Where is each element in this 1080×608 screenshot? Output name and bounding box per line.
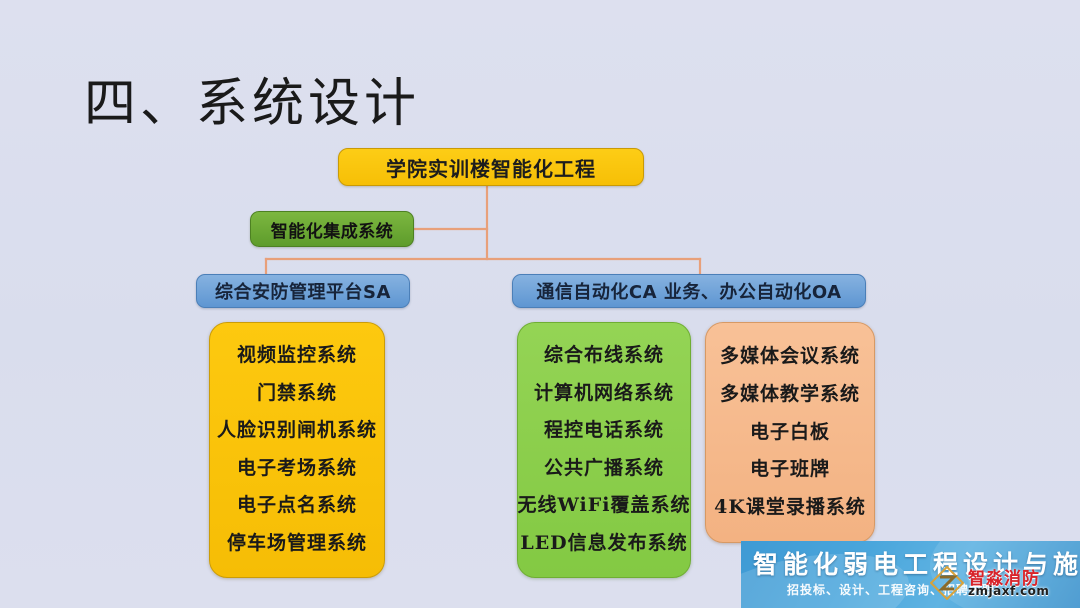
watermark-logo: 智淼消防 zmjaxf.com (930, 564, 1080, 602)
watermark-url: zmjaxf.com (968, 584, 1049, 598)
list-item[interactable]: 电子班牌 (750, 460, 830, 480)
panel-office-systems: 多媒体会议系统 多媒体教学系统 电子白板 电子班牌 4K课堂录播系统 (705, 322, 875, 543)
list-item[interactable]: 公共广播系统 (544, 459, 664, 479)
panel-security-systems: 视频监控系统 门禁系统 人脸识别闸机系统 电子考场系统 电子点名系统 停车场管理… (209, 322, 385, 578)
list-item[interactable]: 电子点名系统 (237, 496, 357, 516)
page-title: 四、系统设计 (84, 78, 420, 130)
node-integration-system[interactable]: 智能化集成系统 (250, 211, 414, 247)
list-item[interactable]: 电子白板 (750, 423, 830, 443)
list-item[interactable]: 无线WiFi覆盖系统 (518, 496, 691, 516)
z-diamond-logo-icon (930, 566, 964, 600)
list-item[interactable]: 电子考场系统 (237, 459, 357, 479)
list-item[interactable]: 计算机网络系统 (534, 384, 674, 404)
node-branch-communication-office[interactable]: 通信自动化CA 业务、办公自动化OA (512, 274, 866, 308)
list-item[interactable]: 人脸识别闸机系统 (217, 421, 377, 441)
list-item[interactable]: 多媒体教学系统 (720, 385, 860, 405)
list-item[interactable]: 门禁系统 (257, 384, 337, 404)
node-branch-security-platform[interactable]: 综合安防管理平台SA (196, 274, 410, 308)
list-item[interactable]: 停车场管理系统 (227, 534, 367, 554)
list-item[interactable]: 多媒体会议系统 (720, 347, 860, 367)
list-item[interactable]: 视频监控系统 (237, 346, 357, 366)
watermark-banner: 智能化弱电工程设计与施工 招投标、设计、工程咨询、招聘求职 智淼消防 zmjax… (741, 541, 1080, 608)
panel-communication-systems: 综合布线系统 计算机网络系统 程控电话系统 公共广播系统 无线WiFi覆盖系统 … (517, 322, 691, 578)
list-item[interactable]: 综合布线系统 (544, 346, 664, 366)
list-item[interactable]: 程控电话系统 (544, 421, 664, 441)
list-item[interactable]: LED信息发布系统 (520, 534, 687, 554)
slide-canvas: 四、系统设计 学院实训楼智能化工程 智能化集成系统 综合安防管理平台SA 通信自… (0, 0, 1080, 608)
list-item[interactable]: 4K课堂录播系统 (714, 498, 866, 518)
node-root-project[interactable]: 学院实训楼智能化工程 (338, 148, 644, 186)
